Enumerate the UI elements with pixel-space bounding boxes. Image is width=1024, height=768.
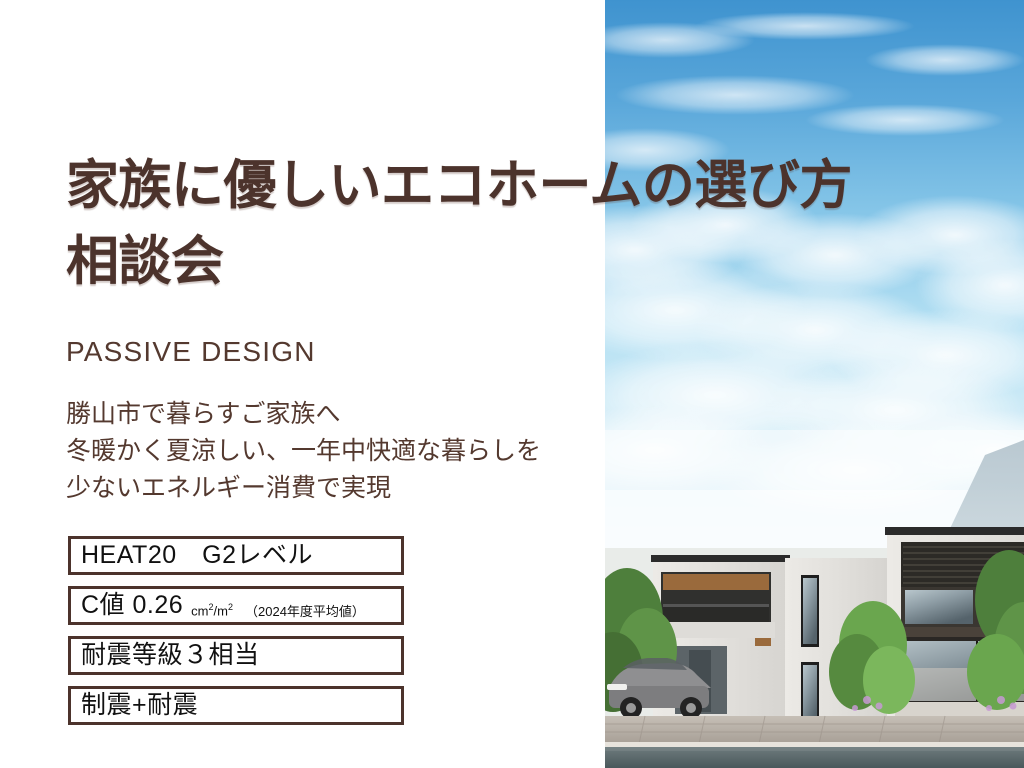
spec-box-c-value: C値 0.26 cm2/m2 （2024年度平均値） [68,586,404,625]
slide-canvas: 家族に優しいエコホームの選び方 相談会 PASSIVE DESIGN 勝山市で暮… [0,0,1024,768]
spec-unit-sup-2: 2 [228,602,233,612]
spec-main-text: 制震+耐震 [81,693,198,718]
spec-main-text: C値 0.26 [81,593,183,618]
spec-unit-part-2: /m [214,604,228,619]
hero-photo [605,0,1024,768]
spec-note-text: （2024年度平均値） [245,601,365,620]
spec-list: HEAT20 G2レベル C値 0.26 cm2/m2 （2024年度平均値） … [68,536,404,736]
lede-line-1: 勝山市で暮らすご家族へ [66,396,541,433]
spec-main-text: HEAT20 G2レベル [81,543,313,568]
lede-line-2: 冬暖かく夏涼しい、一年中快適な暮らしを [66,433,541,470]
lede-paragraph: 勝山市で暮らすご家族へ 冬暖かく夏涼しい、一年中快適な暮らしを 少ないエネルギー… [66,396,541,507]
spec-unit-text: cm2/m2 [191,602,233,618]
spec-box-damping: 制震+耐震 [68,686,404,725]
lede-line-3: 少ないエネルギー消費で実現 [66,470,541,507]
spec-box-seismic-grade: 耐震等級３相当 [68,636,404,675]
spec-unit-part-1: cm [191,604,208,619]
house-photo-illustration [605,0,1024,768]
spec-main-text: 耐震等級３相当 [81,643,260,668]
spec-box-heat20: HEAT20 G2レベル [68,536,404,575]
eyebrow-label: PASSIVE DESIGN [66,335,316,369]
